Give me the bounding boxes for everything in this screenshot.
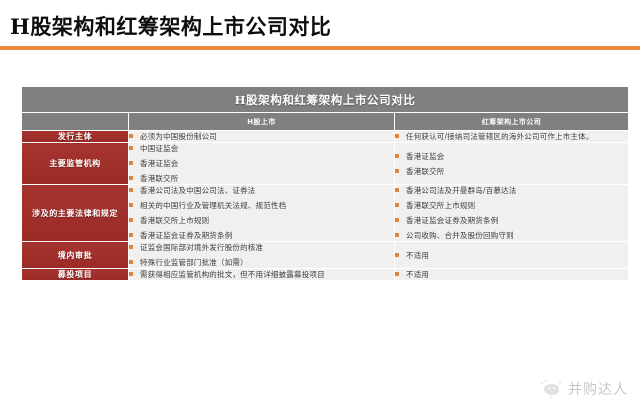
watermark-text: 并购达人 — [568, 379, 628, 399]
bullet-list: 需获得相应监管机构的批文，但不用详细披露募投项目 — [129, 269, 394, 280]
row-label: 涉及的主要法律和规定 — [22, 185, 129, 242]
cell-h-shares: 中国证监会香港证监会香港联交所 — [129, 143, 395, 185]
bullet-list: 中国证监会香港证监会香港联交所 — [129, 143, 394, 184]
row-label: 境内审批 — [22, 242, 129, 269]
bullet-list: 香港公司法及开曼群岛/百慕达法香港联交所上市规则香港证监会证券及期货条例公司收购… — [395, 185, 628, 241]
bullet-item: 香港证监会证券及期货条例 — [129, 230, 394, 241]
cell-red-chip: 任何获认可/接纳司法管辖区的海外公司可作上市主体。 — [395, 131, 629, 143]
watermark: 并购达人 — [541, 379, 628, 399]
bullet-item: 公司收购、合并及股份回购守则 — [395, 230, 628, 241]
bullet-item: 特殊行业监管部门批准（如需） — [129, 257, 394, 268]
bullet-item: 中国证监会 — [129, 143, 394, 154]
cell-red-chip: 不适用 — [395, 269, 629, 281]
table-header-row: H股上市 红筹架构上市公司 — [22, 113, 629, 131]
bullet-item: 需获得相应监管机构的批文，但不用详细披露募投项目 — [129, 269, 394, 280]
table-row: 主要监管机构中国证监会香港证监会香港联交所香港证监会香港联交所 — [22, 143, 629, 185]
cell-red-chip: 不适用 — [395, 242, 629, 269]
column-header-h-shares: H股上市 — [129, 113, 395, 131]
cell-h-shares: 证监会国际部对境外发行股份的核准特殊行业监管部门批准（如需） — [129, 242, 395, 269]
bullet-item: 不适用 — [395, 250, 628, 261]
cell-red-chip: 香港公司法及开曼群岛/百慕达法香港联交所上市规则香港证监会证券及期货条例公司收购… — [395, 185, 629, 242]
bullet-list: 必须为中国股份制公司 — [129, 131, 394, 142]
cell-h-shares: 需获得相应监管机构的批文，但不用详细披露募投项目 — [129, 269, 395, 281]
cell-red-chip: 香港证监会香港联交所 — [395, 143, 629, 185]
bullet-item: 香港证监会 — [129, 158, 394, 169]
bullet-item: 香港联交所上市规则 — [129, 215, 394, 226]
title-divider — [0, 46, 640, 50]
column-header-red-chip: 红筹架构上市公司 — [395, 113, 629, 131]
comparison-table: H股架构和红筹架构上市公司对比 H股上市 红筹架构上市公司 发行主体必须为中国股… — [21, 86, 629, 281]
bullet-list: 香港公司法及中国公司法、证券法相关的中国行业及管理机关法规、规范性档香港联交所上… — [129, 185, 394, 241]
bullet-item: 香港联交所上市规则 — [395, 200, 628, 211]
bullet-item: 香港联交所 — [395, 166, 628, 177]
bullet-list: 不适用 — [395, 269, 628, 280]
row-label: 发行主体 — [22, 131, 129, 143]
bullet-list: 任何获认可/接纳司法管辖区的海外公司可作上市主体。 — [395, 131, 628, 142]
bullet-item: 相关的中国行业及管理机关法规、规范性档 — [129, 200, 394, 211]
bullet-item: 香港证监会证券及期货条例 — [395, 215, 628, 226]
bullet-item: 必须为中国股份制公司 — [129, 131, 394, 142]
chat-blob-icon — [541, 380, 563, 398]
bullet-item: 证监会国际部对境外发行股份的核准 — [129, 242, 394, 253]
table-row: 发行主体必须为中国股份制公司任何获认可/接纳司法管辖区的海外公司可作上市主体。 — [22, 131, 629, 143]
bullet-item: 香港公司法及中国公司法、证券法 — [129, 185, 394, 196]
bullet-item: 任何获认可/接纳司法管辖区的海外公司可作上市主体。 — [395, 131, 628, 142]
page-title: H股架构和红筹架构上市公司对比 — [10, 13, 331, 41]
bullet-item: 不适用 — [395, 269, 628, 280]
bullet-item: 香港证监会 — [395, 151, 628, 162]
bullet-item: 香港联交所 — [129, 173, 394, 184]
table-row: 境内审批证监会国际部对境外发行股份的核准特殊行业监管部门批准（如需）不适用 — [22, 242, 629, 269]
bullet-list: 证监会国际部对境外发行股份的核准特殊行业监管部门批准（如需） — [129, 242, 394, 268]
bullet-list: 香港证监会香港联交所 — [395, 151, 628, 177]
column-header-label — [22, 113, 129, 131]
table-banner-title: H股架构和红筹架构上市公司对比 — [22, 87, 629, 113]
table-row: 涉及的主要法律和规定香港公司法及中国公司法、证券法相关的中国行业及管理机关法规、… — [22, 185, 629, 242]
bullet-item: 香港公司法及开曼群岛/百慕达法 — [395, 185, 628, 196]
table-row: 募投项目需获得相应监管机构的批文，但不用详细披露募投项目不适用 — [22, 269, 629, 281]
row-label: 募投项目 — [22, 269, 129, 281]
bullet-list: 不适用 — [395, 250, 628, 261]
row-label: 主要监管机构 — [22, 143, 129, 185]
cell-h-shares: 香港公司法及中国公司法、证券法相关的中国行业及管理机关法规、规范性档香港联交所上… — [129, 185, 395, 242]
cell-h-shares: 必须为中国股份制公司 — [129, 131, 395, 143]
table-banner-row: H股架构和红筹架构上市公司对比 — [22, 87, 629, 113]
